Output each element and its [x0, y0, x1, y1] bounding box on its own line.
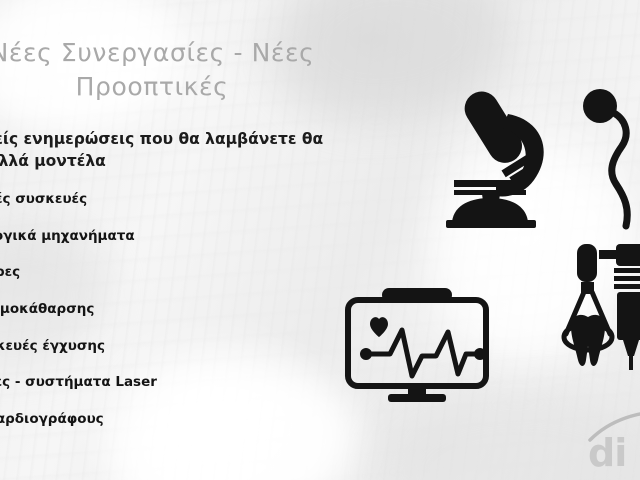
list-item: ...α [0, 448, 370, 464]
list-item: ...Καρδιογράφους [0, 411, 370, 427]
slide-subtitle: ...εχείς ενημερώσεις που θα λαμβάνετε θα… [0, 128, 378, 172]
slide-title: Νέες Συνεργασίες - Νέες Προοπτικές [0, 36, 348, 104]
microscope-icon [438, 84, 554, 232]
syringe-icon [612, 244, 640, 374]
ecg-monitor-icon [344, 288, 490, 408]
brand-logo: di [588, 412, 640, 474]
stethoscope-icon [578, 86, 640, 240]
logo-text: di [588, 434, 626, 472]
list-item: ...λογικά μηχανήματα [0, 228, 370, 244]
list-item: ...δες - συστήματα Laser [0, 374, 370, 390]
list-item: ...ήρες [0, 264, 370, 280]
list-item: ...αιμοκάθαρσης [0, 301, 370, 317]
list-item: ...σκευές έγχυσης [0, 338, 370, 354]
list-item: ...κές συσκευές [0, 191, 370, 207]
bullet-list: ...κές συσκευές ...λογικά μηχανήματα ...… [0, 191, 370, 480]
presentation-slide: Νέες Συνεργασίες - Νέες Προοπτικές ...εχ… [0, 0, 640, 480]
